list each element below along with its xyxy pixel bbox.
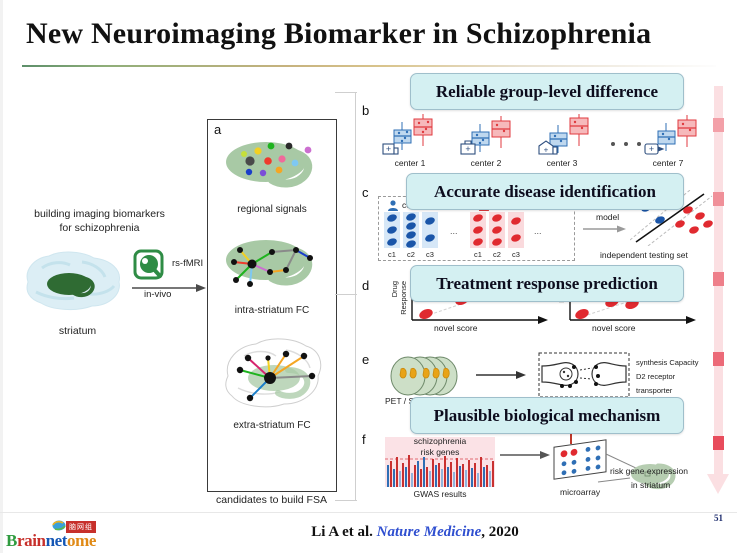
spine-tick-top xyxy=(335,92,357,93)
footer-divider xyxy=(0,512,737,513)
panel-e-marker-1: synthesis Capacity xyxy=(636,358,699,367)
spine-tick-mid xyxy=(335,294,357,295)
panel-f-gwas-caption: GWAS results xyxy=(385,489,495,499)
panel-b-center-label-1: center 1 xyxy=(385,158,435,168)
panel-c-col-label-p3: c3 xyxy=(508,250,524,259)
panel-e-marker-2: D2 receptor xyxy=(636,372,675,381)
panel-d-y-label-left-1: Drug xyxy=(390,281,399,297)
panel-a-container: a regional signals xyxy=(207,119,337,492)
brain-striatum-illustration xyxy=(16,248,136,314)
progress-segment-5 xyxy=(713,436,724,450)
panel-f-microarray-label: microarray xyxy=(560,487,600,497)
logo-part-rain: rain xyxy=(17,531,46,550)
in-vivo-label: in-vivo xyxy=(144,289,171,300)
panel-c-col-label-c2: c2 xyxy=(403,250,419,259)
panel-f-gwas-title-2: risk genes xyxy=(390,447,490,457)
citation: Li A et al. Nature Medicine, 2020 xyxy=(250,524,580,541)
panel-c-sample-columns: ... ... xyxy=(382,212,572,248)
modality-label: rs-fMRI xyxy=(172,258,203,269)
panel-c-testing-set-label: independent testing set xyxy=(600,250,688,260)
controls-person-icon xyxy=(386,200,400,211)
panel-d-x-label-left: novel score xyxy=(434,323,477,333)
panel-a-footer-caption: candidates to build FSA xyxy=(199,494,344,506)
panel-d-letter: d xyxy=(362,278,369,293)
callout-biological-mechanism[interactable]: Plausible biological mechanism xyxy=(410,397,684,434)
panel-c-model-arrow xyxy=(583,224,627,234)
intra-striatum-fc-figure xyxy=(214,228,330,300)
right-section-spine xyxy=(355,92,356,500)
panel-c-col-label-p1: c1 xyxy=(470,250,486,259)
panel-e-synapse-diagram xyxy=(538,352,630,398)
panel-e-marker-3: transporter xyxy=(636,386,672,395)
panel-b-letter: b xyxy=(362,103,369,118)
panel-f-arrow xyxy=(500,448,552,462)
left-edge-strip xyxy=(0,0,3,553)
panel-c-letter: c xyxy=(362,185,369,200)
svg-text:...: ... xyxy=(450,226,458,236)
brainnetome-logo: 脑网组 Brainnetome xyxy=(4,520,126,550)
panel-e-arrow xyxy=(476,368,528,382)
panel-b-center-label-3: center 3 xyxy=(537,158,587,168)
callout-treatment-response[interactable]: Treatment response prediction xyxy=(410,265,684,302)
slide-canvas: New Neuroimaging Biomarker in Schizophre… xyxy=(0,0,737,553)
lead-description: building imaging biomarkers for schizoph… xyxy=(12,207,187,235)
panel-f-letter: f xyxy=(362,432,366,447)
callout-disease-identification[interactable]: Accurate disease identification xyxy=(406,173,684,210)
panel-d-y-label-left-2: Response xyxy=(399,281,408,315)
svg-text:...: ... xyxy=(534,226,542,236)
hospital-icon-7: + xyxy=(645,144,663,154)
svg-text:+: + xyxy=(386,144,391,154)
logo-wordmark: Brainnetome xyxy=(6,531,96,551)
progress-segment-4 xyxy=(713,352,724,366)
citation-year: , 2020 xyxy=(481,524,519,540)
panel-a-caption-2: intra-striatum FC xyxy=(208,305,336,316)
logo-part-ome: ome xyxy=(67,531,96,550)
panel-e-brain-slices xyxy=(388,353,468,399)
panel-f-gwas-title-1: schizophrenia xyxy=(390,436,490,446)
progress-arrow-head xyxy=(707,474,729,494)
spine-tick-bottom xyxy=(335,500,357,501)
rs-fmri-arrow-group: rs-fMRI in-vivo xyxy=(130,248,208,306)
panel-c-col-label-c1: c1 xyxy=(384,250,400,259)
panel-c-model-label: model xyxy=(596,212,619,222)
svg-text:+: + xyxy=(544,146,549,155)
panel-f-result-line-1: risk gene expression xyxy=(610,466,688,476)
logo-part-net: net xyxy=(46,531,67,550)
hospital-icon-3: + xyxy=(539,141,557,155)
panel-a-caption-1: regional signals xyxy=(208,204,336,215)
panel-e-letter: e xyxy=(362,352,369,367)
striatum-label: striatum xyxy=(30,325,125,337)
slide-number: 51 xyxy=(714,513,723,523)
panel-b-center-label-2: center 2 xyxy=(461,158,511,168)
panel-f-result-line-2: in striatum xyxy=(631,480,670,490)
panel-d-x-label-right: novel score xyxy=(592,323,635,333)
svg-text:+: + xyxy=(649,144,654,154)
hospital-icon-2: + xyxy=(461,141,475,154)
logo-part-b: B xyxy=(6,531,17,550)
panel-b-center-label-7: center 7 xyxy=(643,158,693,168)
panel-f-microarray-figure xyxy=(548,432,698,494)
progress-segment-3 xyxy=(713,272,724,286)
regional-signals-figure xyxy=(214,134,330,200)
panel-c-col-label-p2: c2 xyxy=(489,250,505,259)
mri-scanner-icon xyxy=(135,251,162,278)
citation-authors: Li A et al. xyxy=(311,524,376,540)
lead-line-2: for schizophrenia xyxy=(12,221,187,235)
brain-logo-icon xyxy=(52,520,66,531)
callout-group-difference[interactable]: Reliable group-level difference xyxy=(410,73,684,110)
lead-line-1: building imaging biomarkers xyxy=(12,207,187,221)
extra-striatum-fc-figure xyxy=(214,332,330,416)
panel-a-caption-3: extra-striatum FC xyxy=(208,420,336,431)
progress-segment-1 xyxy=(713,118,724,132)
progress-segment-2 xyxy=(713,192,724,206)
title-divider xyxy=(22,65,716,67)
page-title: New Neuroimaging Biomarker in Schizophre… xyxy=(26,17,716,51)
hospital-icon-1: + xyxy=(383,144,398,154)
svg-text:+: + xyxy=(465,144,470,154)
citation-journal: Nature Medicine xyxy=(377,524,482,540)
panel-c-col-label-c3: c3 xyxy=(422,250,438,259)
hospital-icons-row: + + + + xyxy=(380,140,680,156)
